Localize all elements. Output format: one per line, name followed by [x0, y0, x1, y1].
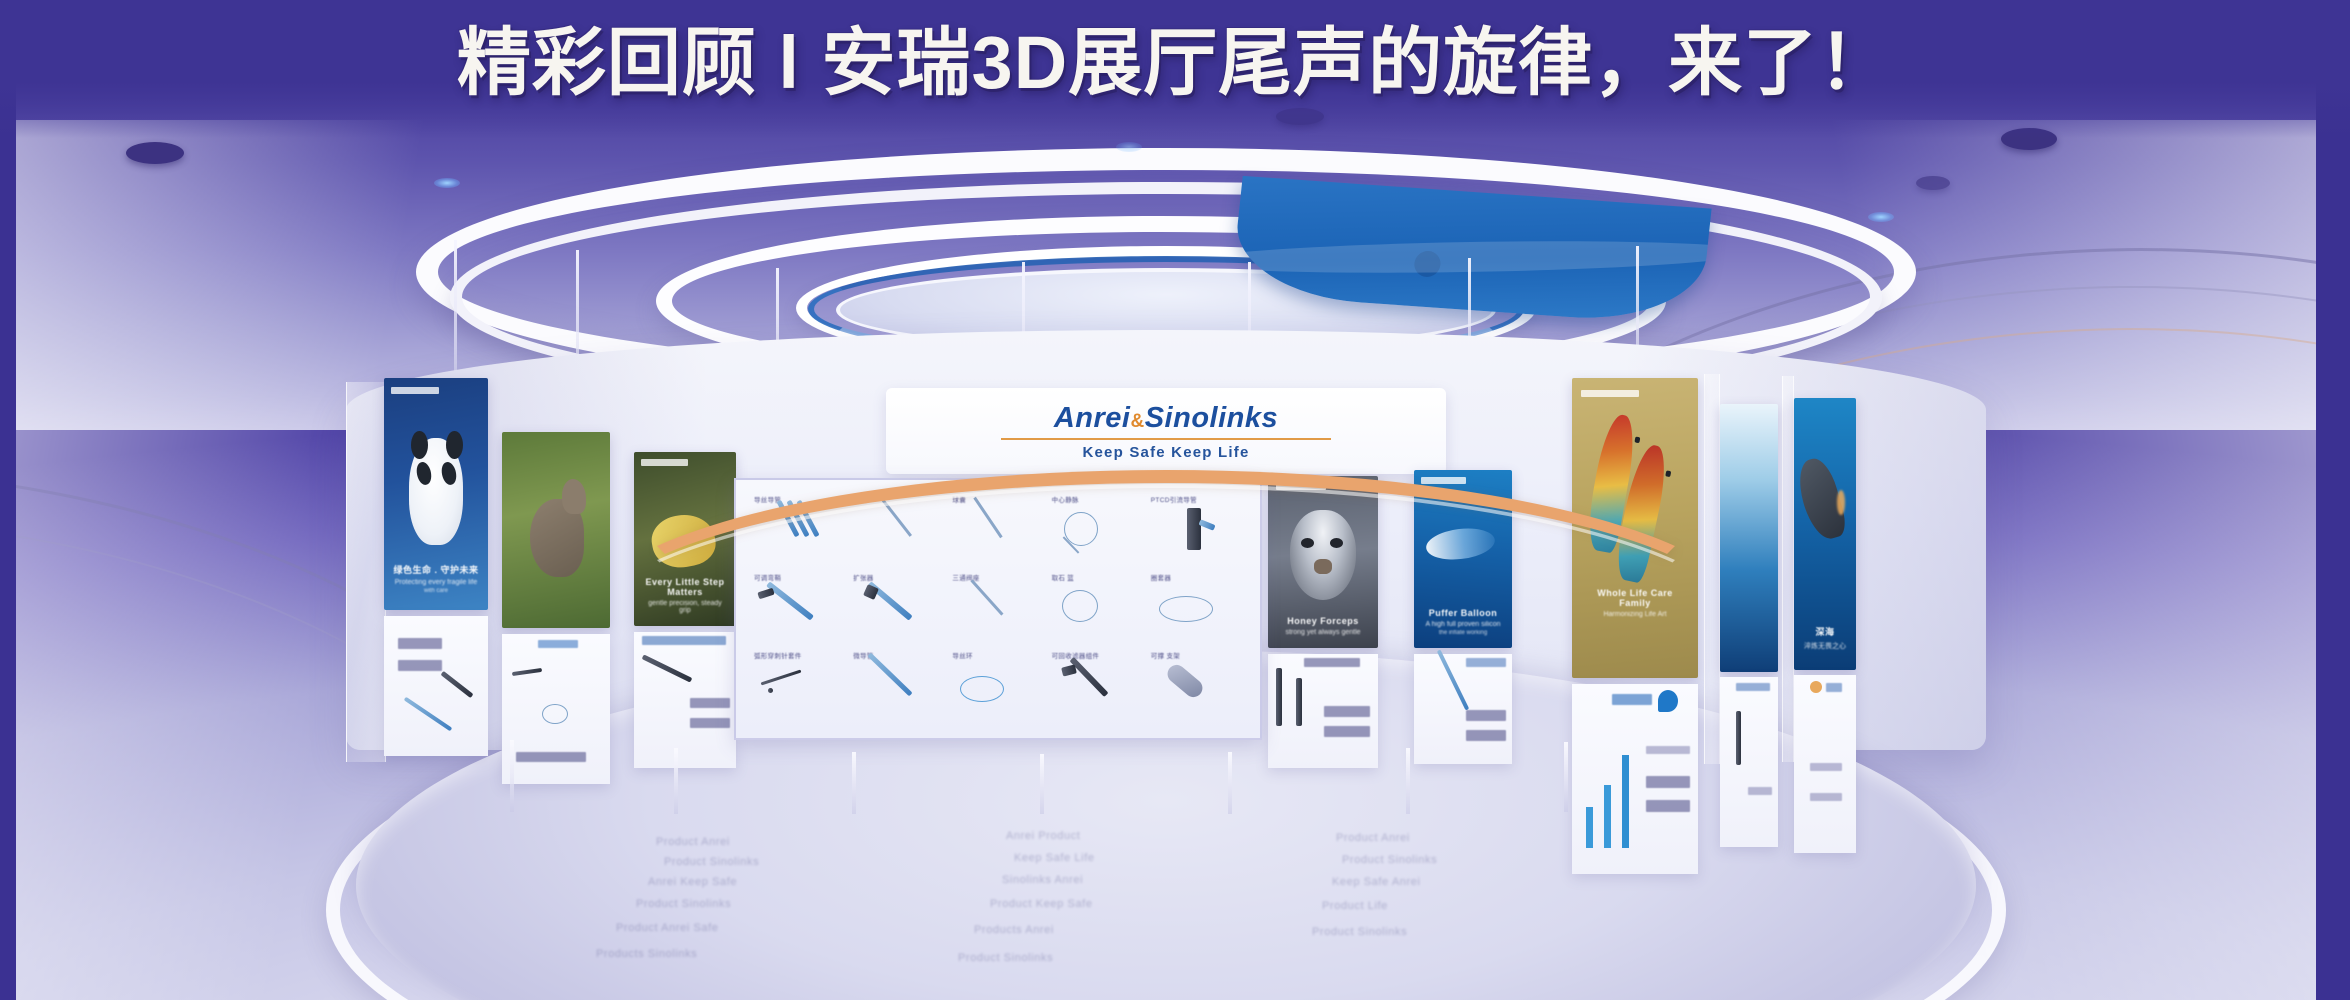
wall-label-line	[1646, 800, 1690, 812]
glass-partition	[346, 382, 386, 762]
ring-led-glow	[1116, 142, 1142, 152]
company-sign: Anrei&Sinolinks Keep Safe Keep Life	[886, 388, 1446, 474]
board-panda	[384, 616, 488, 756]
poster-brand-logo	[1581, 390, 1639, 397]
railing-post	[852, 752, 856, 814]
glass-partition	[1782, 376, 1794, 762]
floor-text-column: Product Sinolinks	[1312, 926, 1407, 938]
device-loop	[542, 704, 568, 724]
poster-brand-logo	[641, 459, 688, 466]
stage-band-highlight	[581, 484, 1751, 784]
wall-label-line	[516, 752, 586, 762]
ampersand: &	[1130, 411, 1144, 432]
wall-label-line	[398, 638, 442, 649]
poster-sea-dolphin: 深海 淬炼无畏之心	[1794, 398, 1856, 670]
floor-text-column: Keep Safe Life	[1014, 852, 1095, 864]
exhibition-hall-scene: Anrei&Sinolinks Keep Safe Keep Life 绿色生命…	[16, 0, 2316, 1000]
railing-post	[1406, 748, 1410, 814]
floor-text-column: Product Life	[1322, 900, 1388, 912]
poster-caption-line2: Protecting every fragile life	[392, 579, 479, 586]
ring-led-glow	[434, 178, 460, 188]
railing-post	[674, 748, 678, 814]
board-logo-mark	[538, 640, 578, 648]
railing-post	[1228, 752, 1232, 814]
wall-label-line	[1646, 746, 1690, 754]
wall-label-line	[1736, 683, 1770, 691]
device-clip	[512, 668, 542, 676]
poster-caption: 绿色生命 . 守护未来 Protecting every fragile lif…	[392, 563, 479, 594]
wall-label-line	[1810, 763, 1842, 771]
sign-divider	[1001, 438, 1331, 440]
wall-label-line	[398, 660, 442, 671]
showroom-banner: Anrei&Sinolinks Keep Safe Keep Life 绿色生命…	[0, 0, 2350, 1000]
ceiling-spotlight	[1916, 176, 1950, 190]
poster-caption-line1: 绿色生命 . 守护未来	[392, 563, 479, 576]
floor-text-column: Products Anrei	[974, 924, 1054, 936]
right-edge-strip	[2316, 0, 2350, 1000]
ring-accent-dot	[1413, 250, 1442, 278]
poster-caption-line1: 深海	[1799, 625, 1851, 638]
mini-bar-chart	[1582, 740, 1644, 848]
floor-text-column: Product Keep Safe	[990, 898, 1093, 910]
railing-post	[1040, 754, 1044, 814]
bird-beak	[1634, 437, 1639, 443]
railing-post	[1564, 742, 1568, 812]
floor-text-column: Product Anrei	[656, 836, 730, 848]
wall-label-line	[1748, 787, 1772, 795]
brand-sinolinks: Sinolinks	[1145, 402, 1278, 434]
floor-text-column: Anrei Keep Safe	[648, 876, 737, 888]
railing-post	[510, 740, 514, 812]
floor-text-column: Product Sinolinks	[958, 952, 1053, 964]
poster-caption: 深海 淬炼无畏之心	[1799, 625, 1851, 651]
floor-text-column: Anrei Product	[1006, 830, 1080, 842]
company-name: Anrei&Sinolinks	[1054, 402, 1278, 435]
chart-bar	[1586, 807, 1593, 848]
ceiling-spotlight	[126, 142, 184, 164]
company-tagline: Keep Safe Keep Life	[1082, 444, 1249, 461]
poster-caption-line2: 淬炼无畏之心	[1799, 641, 1851, 651]
board-wave	[1720, 677, 1778, 847]
kangaroo-head	[562, 479, 586, 514]
floor-text-column: Sinolinks Anrei	[1002, 874, 1083, 886]
chart-bar	[1604, 785, 1611, 848]
floor-text-column: Product Sinolinks	[664, 856, 759, 868]
panda-ear-right	[446, 431, 463, 459]
wall-label-line	[1646, 776, 1690, 788]
panel-panda[interactable]: 绿色生命 . 守护未来 Protecting every fragile lif…	[384, 378, 488, 756]
poster-brand-logo	[391, 387, 439, 394]
board-sea	[1794, 675, 1856, 853]
device-shaft	[1736, 711, 1741, 765]
poster-panda: 绿色生命 . 守护未来 Protecting every fragile lif…	[384, 378, 488, 610]
device-catheter	[404, 697, 453, 732]
page-title: 精彩回顾 l 安瑞3D展厅尾声的旋律，来了！	[0, 26, 2350, 100]
left-edge-strip	[0, 0, 16, 1000]
floor-text-column: Product Anrei Safe	[616, 922, 719, 934]
poster-brand-logo	[1421, 477, 1466, 484]
sun-glow	[1837, 490, 1845, 514]
bird-beak	[1665, 470, 1671, 476]
brand-anrei: Anrei	[1054, 402, 1131, 434]
ring-led-glow	[1868, 212, 1894, 222]
wall-label-line	[1810, 793, 1842, 801]
device-needle	[440, 671, 473, 698]
board-accent-dot	[1810, 681, 1822, 693]
wall-label-line	[1826, 683, 1842, 692]
poster-caption-line3: with care	[392, 588, 479, 594]
floor-text-column: Product Sinolinks	[1342, 854, 1437, 866]
floor-text-column: Product Sinolinks	[636, 898, 731, 910]
panel-sea-dolphin[interactable]: 深海 淬炼无畏之心	[1794, 398, 1856, 853]
chart-bar	[1622, 755, 1629, 848]
panda-ear-left	[411, 431, 428, 459]
floor-text-column: Products Sinolinks	[596, 948, 697, 960]
floor-text-column: Product Anrei	[1336, 832, 1410, 844]
ceiling-spotlight	[2001, 128, 2057, 150]
floor-text-column: Keep Safe Anrei	[1332, 876, 1421, 888]
